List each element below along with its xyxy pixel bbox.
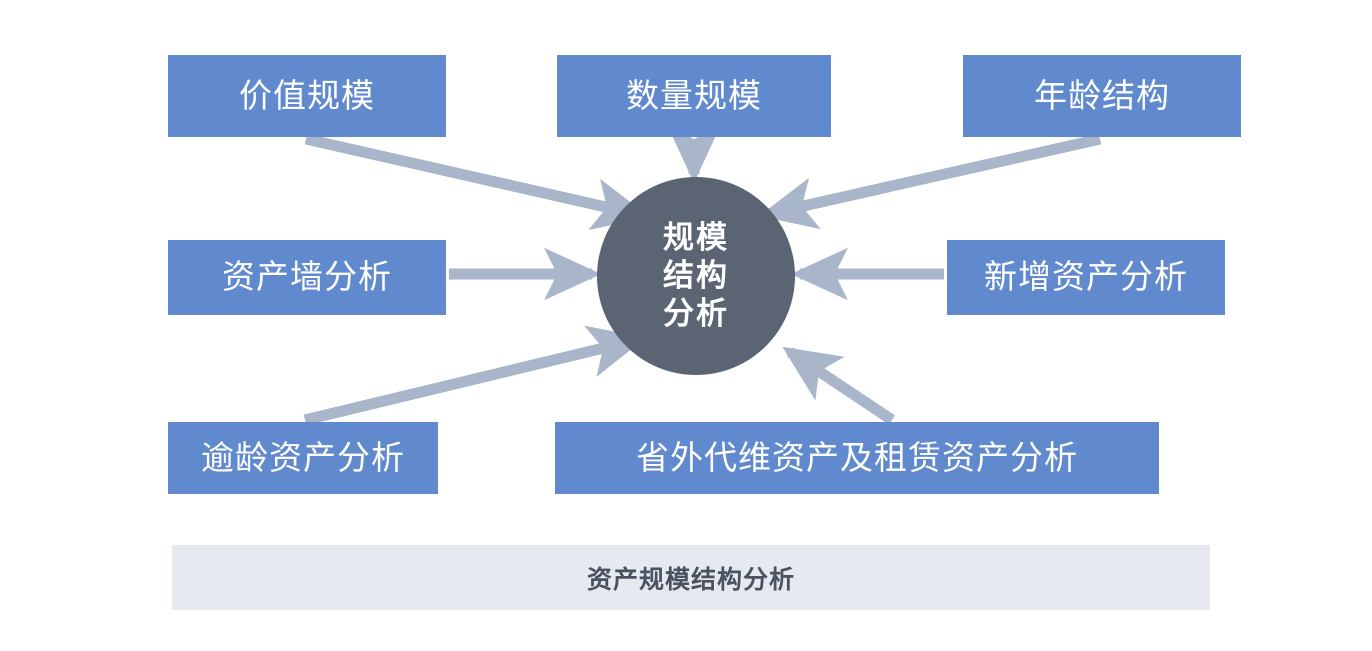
node-label: 新增资产分析 [984, 259, 1188, 295]
hub-line-2: 结构 [663, 257, 729, 295]
connector-outprovince-to-hub [790, 352, 892, 420]
node-label: 数量规模 [626, 78, 762, 114]
diagram-caption-text: 资产规模结构分析 [587, 560, 795, 596]
node-new-assets[interactable]: 新增资产分析 [947, 240, 1225, 315]
node-overdue-assets[interactable]: 逾龄资产分析 [168, 422, 438, 494]
node-value-scale[interactable]: 价值规模 [168, 55, 446, 137]
hub-line-3: 分析 [663, 295, 729, 333]
node-asset-wall[interactable]: 资产墙分析 [168, 240, 446, 315]
node-label: 逾龄资产分析 [201, 440, 405, 476]
node-label: 省外代维资产及租赁资产分析 [636, 440, 1078, 476]
hub-scale-structure-analysis[interactable]: 规模 结构 分析 [597, 177, 795, 375]
node-outprovince-assets[interactable]: 省外代维资产及租赁资产分析 [555, 422, 1159, 494]
node-label: 价值规模 [239, 78, 375, 114]
node-label: 资产墙分析 [222, 259, 392, 295]
diagram-caption-bar: 资产规模结构分析 [172, 545, 1210, 610]
connector-overdue-assets-to-hub [305, 340, 637, 420]
connector-age-structure-to-hub [768, 139, 1100, 214]
connector-value-scale-to-hub [306, 139, 641, 215]
diagram-canvas: 价值规模 数量规模 年龄结构 资产墙分析 新增资产分析 逾龄资产分析 省外代维资… [0, 0, 1372, 651]
hub-line-1: 规模 [663, 219, 729, 257]
node-label: 年龄结构 [1034, 78, 1170, 114]
node-quantity-scale[interactable]: 数量规模 [557, 55, 831, 137]
node-age-structure[interactable]: 年龄结构 [963, 55, 1241, 137]
